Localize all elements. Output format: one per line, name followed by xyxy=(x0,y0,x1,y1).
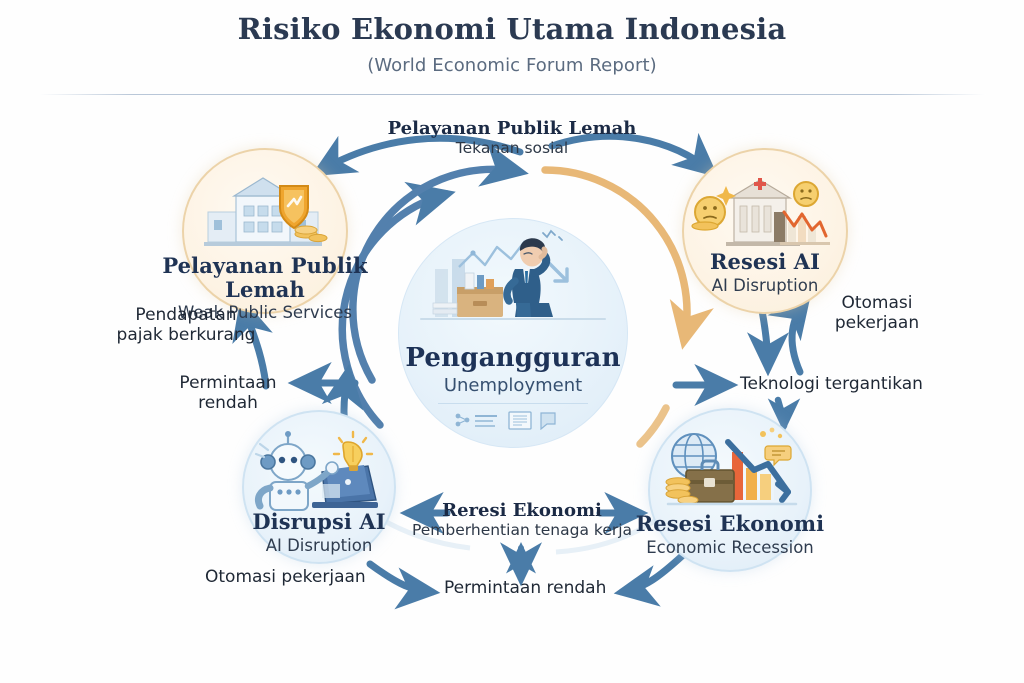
node-ai-disruption[interactable]: Disrupsi AI AI Disruption xyxy=(242,410,396,564)
node-labels-ai-recession: Resesi AI AI Disruption xyxy=(644,250,886,295)
bank-building-declining-chart-icon xyxy=(684,164,846,260)
edge-label-job-automation-right: Otomasi pekerjaan xyxy=(812,293,942,333)
robot-laptop-lightbulb-icon xyxy=(244,426,394,522)
infographic-canvas: Risiko Ekonomi Utama Indonesia (World Ec… xyxy=(0,0,1024,683)
arrow-technology-to-recession xyxy=(778,400,784,426)
center-node-unemployment[interactable]: Pengangguran Unemployment xyxy=(398,218,628,448)
hub-divider xyxy=(438,403,588,404)
node-weak-public-services[interactable]: Pelayanan Publik Lemah Weak Public Servi… xyxy=(182,148,348,314)
inner-ring-arrow-orange-lower xyxy=(640,408,666,444)
label-line2: pekerjaan xyxy=(812,313,942,333)
hub-subtitle: Unemployment xyxy=(444,375,582,396)
label-line2: pajak berkurang xyxy=(96,325,276,345)
edge-label-low-demand-left: Permintaan rendah xyxy=(158,373,298,413)
arrow-job-automation-right xyxy=(792,300,806,372)
node-ai-recession[interactable]: Resesi AI AI Disruption xyxy=(682,148,848,314)
node-subtitle: Economic Recession xyxy=(610,539,850,558)
edge-label-sub: Tekanan sosial xyxy=(362,139,662,157)
edge-label-job-automation-bottom: Otomasi pekerjaan xyxy=(205,567,385,587)
edge-label-bottom-center: Reresi Ekonomi Pemberhentian tenaga kerj… xyxy=(392,500,652,540)
edge-label-top-center: Pelayanan Publik Lemah Tekanan sosial xyxy=(362,118,662,158)
label-line1: Otomasi xyxy=(812,293,942,313)
label-line1: Teknologi tergantikan xyxy=(740,374,940,394)
label-line1: Pendapatan xyxy=(96,305,276,325)
edge-label-low-demand-bottom: Permintaan rendah xyxy=(444,578,604,598)
edge-label-sub: Pemberhentian tenaga kerja xyxy=(392,521,652,539)
hub-title: Pengangguran xyxy=(405,343,620,373)
label-line1: Permintaan rendah xyxy=(444,578,604,598)
unemployed-person-illustration xyxy=(399,225,627,343)
hub-document-glyphs xyxy=(453,410,573,434)
edge-label-tax-revenue-down: Pendapatan pajak berkurang xyxy=(96,305,276,345)
label-line1: Otomasi pekerjaan xyxy=(205,567,385,587)
node-title-line2: Lemah xyxy=(144,278,386,302)
edge-label-main: Reresi Ekonomi xyxy=(392,500,652,521)
label-line2: rendah xyxy=(158,393,298,413)
node-title-line1: Pelayanan Publik xyxy=(144,254,386,278)
node-title: Resesi AI xyxy=(644,250,886,274)
edge-label-main: Pelayanan Publik Lemah xyxy=(362,118,662,139)
node-economic-recession[interactable]: Resesi Ekonomi Economic Recession xyxy=(648,408,812,572)
label-line1: Permintaan xyxy=(158,373,298,393)
edge-label-technology-replaced: Teknologi tergantikan xyxy=(740,374,940,394)
arrow-recession-to-low-demand xyxy=(622,556,682,592)
globe-briefcase-declining-chart-icon xyxy=(650,424,810,520)
government-building-shield-icon xyxy=(184,164,346,260)
